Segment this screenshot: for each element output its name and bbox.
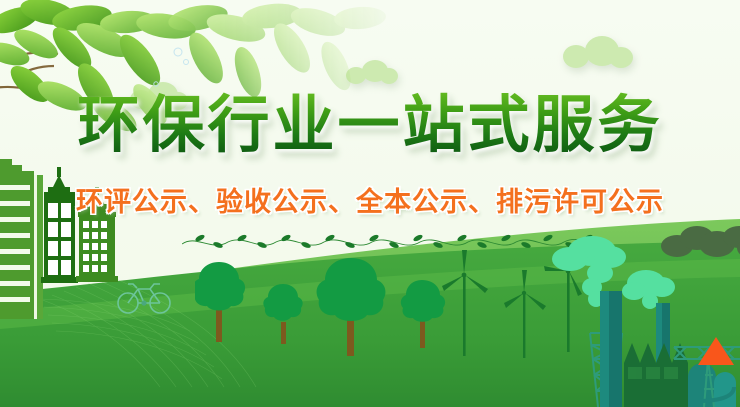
bicycle-icon: [116, 279, 172, 315]
cloud-top-right-icon: [585, 36, 619, 66]
tree: [317, 258, 386, 356]
wind-turbine: [504, 270, 546, 358]
tree: [195, 262, 245, 342]
building-tall: [0, 159, 43, 319]
banner-subtitle: 环评公示、验收公示、全本公示、排污许可公示: [76, 186, 664, 220]
cloud-center-icon: [362, 60, 388, 82]
wind-turbine: [442, 250, 488, 356]
eco-banner: 环保行业一站式服务 环评公示、验收公示、全本公示、排污许可公示: [0, 0, 740, 407]
factory-complex: [548, 225, 740, 407]
title-container: 环保行业一站式服务: [0, 88, 740, 162]
trees-group: [195, 258, 455, 368]
banner-title: 环保行业一站式服务: [77, 88, 662, 162]
subtitle-container: 环评公示、验收公示、全本公示、排污许可公示: [0, 186, 740, 220]
building-mid: [41, 167, 78, 283]
tree: [263, 284, 302, 344]
tree: [401, 280, 445, 348]
